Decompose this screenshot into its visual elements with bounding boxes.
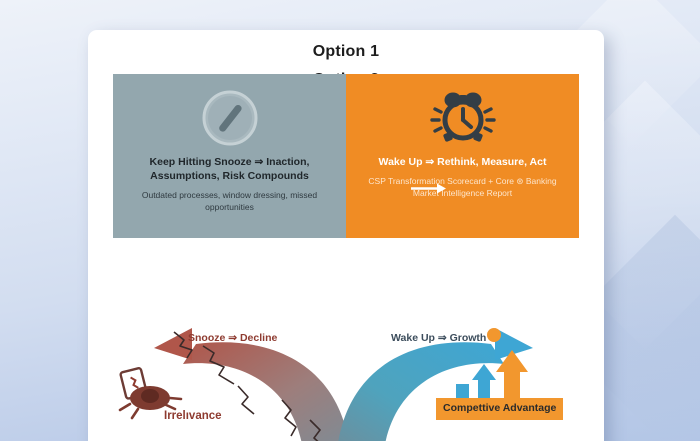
option1-title: Option 1 xyxy=(88,43,604,61)
option1-panel-group: Keep Hitting Snooze ⇒ Inaction, Assumpti… xyxy=(113,74,579,238)
option2-right-branch-label: Wake Up ⇒ Growth xyxy=(391,332,486,344)
option1-left-headline: Keep Hitting Snooze ⇒ Inaction, Assumpti… xyxy=(123,155,336,183)
snooze-button-icon xyxy=(201,87,259,149)
option1-right-panel: Wake Up ⇒ Rethink, Measure, Act CSP Tran… xyxy=(346,74,579,238)
option1-right-subtext: CSP Transformation Scorecard + Core ⊛ Ba… xyxy=(356,176,569,200)
alarm-clock-icon xyxy=(428,87,498,149)
option2-left-outcome-label: Irrelıvance xyxy=(164,410,222,422)
option1-left-subtext: Outdated processes, window dressing, mis… xyxy=(123,190,336,214)
slide-card: Option 1 Keep Hitting Snooze ⇒ Inaction,… xyxy=(88,30,604,441)
option2-left-branch-label: Snooze ⇒ Decline xyxy=(188,332,277,344)
option2-right-outcome-badge: Compettive Advantage xyxy=(436,398,563,420)
right-arrow-icon xyxy=(411,182,447,195)
option1-right-headline: Wake Up ⇒ Rethink, Measure, Act xyxy=(379,155,547,169)
slide-canvas: Option 1 Keep Hitting Snooze ⇒ Inaction,… xyxy=(0,0,700,441)
option2-diagram: Snooze ⇒ Decline Wake Up ⇒ Growth Irrelı… xyxy=(88,292,604,441)
option1-left-panel: Keep Hitting Snooze ⇒ Inaction, Assumpti… xyxy=(113,74,346,238)
